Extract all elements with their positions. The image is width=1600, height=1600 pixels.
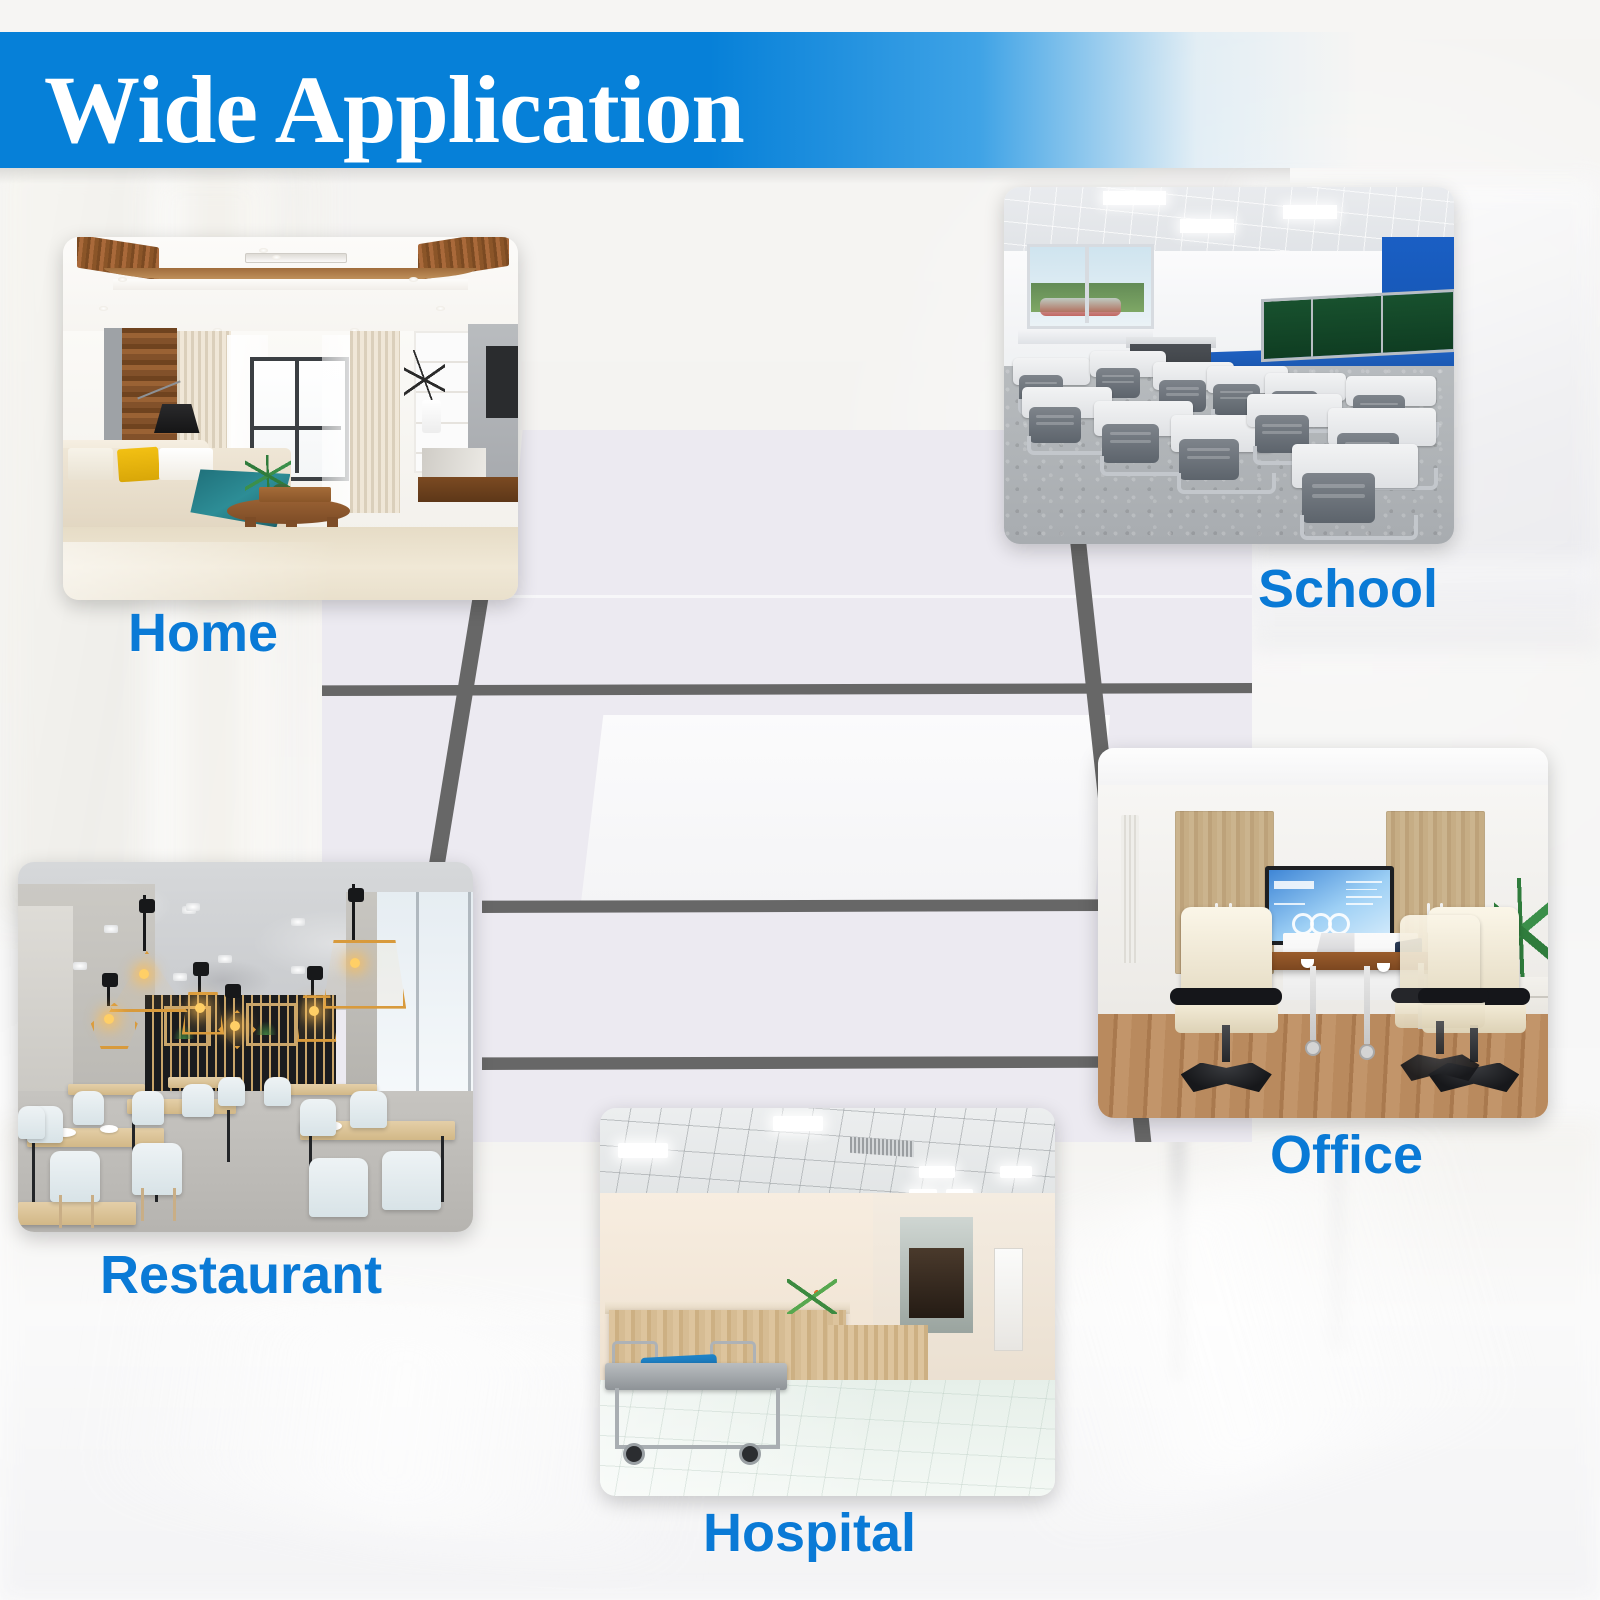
- home-photo: [63, 237, 518, 600]
- header-banner: Wide Application: [0, 32, 1360, 168]
- poster-canvas: Wide Application: [0, 0, 1600, 1600]
- card-label-restaurant: Restaurant: [100, 1248, 382, 1302]
- banner-shadow: [0, 168, 1290, 184]
- application-card-home[interactable]: [63, 237, 518, 600]
- office-photo: [1098, 748, 1548, 1118]
- school-photo: [1004, 187, 1454, 544]
- application-card-restaurant[interactable]: [18, 862, 473, 1232]
- card-label-hospital: Hospital: [703, 1506, 916, 1560]
- application-card-office[interactable]: [1098, 748, 1548, 1118]
- page-title: Wide Application: [44, 62, 744, 158]
- application-card-school[interactable]: [1004, 187, 1454, 544]
- restaurant-photo: [18, 862, 473, 1232]
- card-label-home: Home: [128, 606, 278, 660]
- card-label-school: School: [1258, 562, 1438, 616]
- led-panel-light: [580, 715, 1110, 911]
- hospital-photo: [600, 1108, 1055, 1496]
- application-card-hospital[interactable]: [600, 1108, 1055, 1496]
- card-label-office: Office: [1270, 1128, 1423, 1182]
